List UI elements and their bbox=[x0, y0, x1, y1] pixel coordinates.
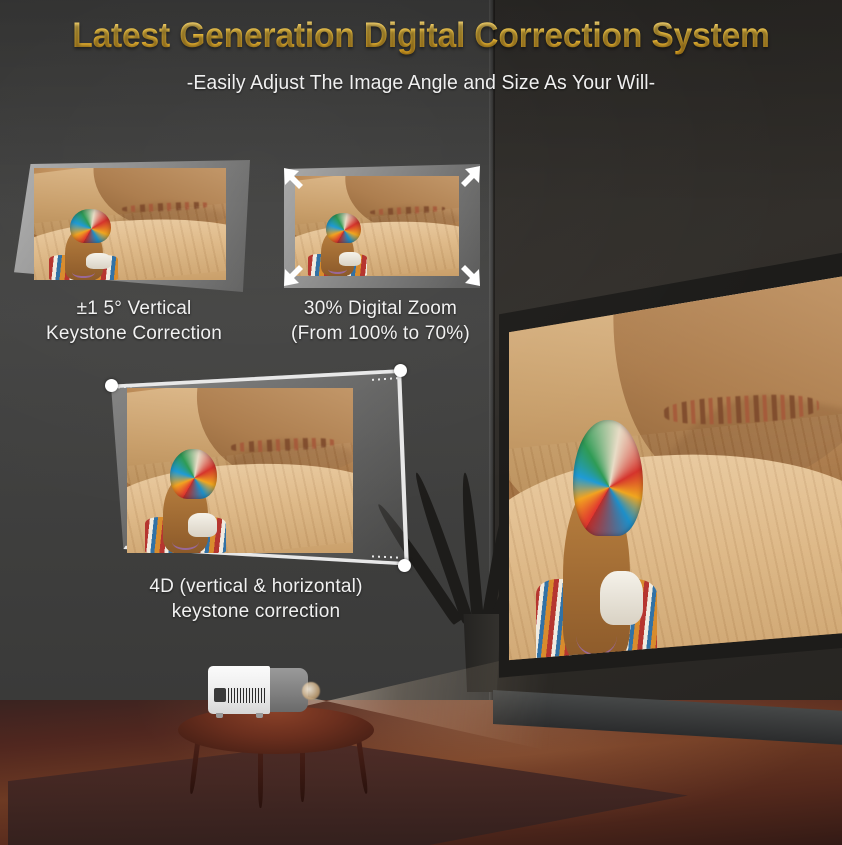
feature-1-caption-line1: 30% Digital Zoom bbox=[268, 296, 493, 321]
header: Latest Generation Digital Correction Sys… bbox=[0, 0, 842, 110]
projector-foot bbox=[216, 713, 223, 718]
keystone-preview-image bbox=[34, 168, 226, 280]
feature-4d-keystone bbox=[100, 366, 412, 574]
desert-artwork bbox=[509, 276, 842, 664]
keystone-handle-top-left[interactable] bbox=[105, 379, 118, 392]
keystone-handle-bottom-right[interactable] bbox=[398, 559, 411, 572]
keystone-4d-preview-image bbox=[127, 388, 353, 553]
feature-vertical-keystone bbox=[14, 160, 250, 292]
feature-0-caption-line2: Keystone Correction bbox=[0, 321, 268, 346]
page-subtitle: -Easily Adjust The Image Angle and Size … bbox=[13, 72, 830, 95]
feature-2-caption-line1: 4D (vertical & horizontal) bbox=[40, 574, 472, 599]
feature-digital-zoom bbox=[284, 164, 480, 288]
keystone-handle-top-right[interactable] bbox=[394, 364, 407, 377]
projector-foot bbox=[256, 713, 263, 718]
feature-1-caption-line2: (From 100% to 70%) bbox=[268, 321, 493, 346]
feature-0-caption-line1: ±1 5° Vertical bbox=[0, 296, 268, 321]
page-title: Latest Generation Digital Correction Sys… bbox=[17, 16, 825, 56]
projected-image bbox=[509, 276, 842, 664]
zoom-preview-image bbox=[295, 176, 459, 276]
feature-2-caption-line2: keystone correction bbox=[40, 599, 472, 624]
